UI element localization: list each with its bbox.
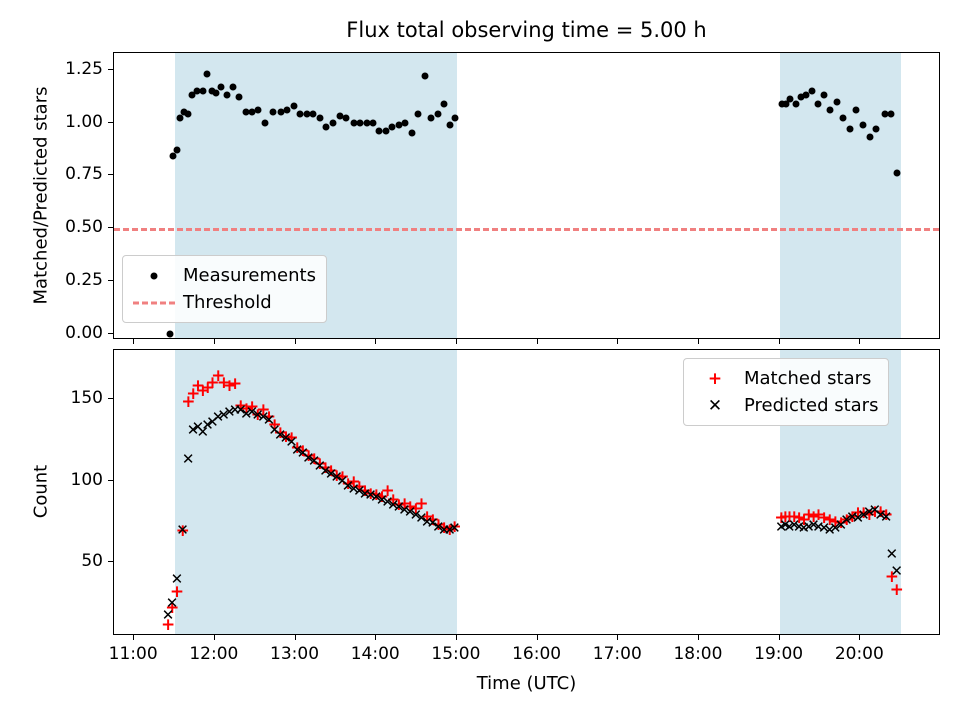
measurement-point [859, 121, 866, 128]
measurement-point [452, 115, 459, 122]
x-tick-mark [617, 339, 618, 344]
y-tick-mark [108, 561, 113, 562]
measurement-point [236, 94, 243, 101]
measurement-point [866, 134, 873, 141]
y-tick-mark [108, 280, 113, 281]
predicted-star-point: ✕ [176, 523, 190, 537]
x-tick-mark [375, 635, 376, 640]
x-tick-mark [133, 339, 134, 344]
measurement-point [808, 87, 815, 94]
x-axis-label: Time (UTC) [113, 673, 940, 694]
y-tick-mark [108, 480, 113, 481]
x-tick-mark [456, 635, 457, 640]
x-tick-mark [859, 635, 860, 640]
y-tick-label: 0.50 [13, 217, 103, 237]
legend-label-measurements: Measurements [177, 265, 316, 286]
x-tick-mark [779, 339, 780, 344]
predicted-star-point: ✕ [885, 547, 899, 561]
measurement-point [199, 87, 206, 94]
measurement-point [415, 111, 422, 118]
measurement-point [323, 123, 330, 130]
x-tick-mark [859, 339, 860, 344]
y-tick-label: 1.00 [13, 112, 103, 132]
measurement-point [316, 115, 323, 122]
y-tick-mark [108, 69, 113, 70]
legend-item-matched-stars[interactable]: + Matched stars [692, 365, 878, 392]
predicted-star-point: ✕ [181, 452, 195, 466]
legend-item-predicted-stars[interactable]: ✕ Predicted stars [692, 392, 878, 419]
x-tick-label: 16:00 [512, 644, 561, 664]
measurement-point [792, 100, 799, 107]
x-tick-mark [295, 635, 296, 640]
x-tick-label: 14:00 [351, 644, 400, 664]
x-tick-mark [698, 635, 699, 640]
y-tick-label: 150 [13, 388, 103, 408]
measurement-point [846, 125, 853, 132]
y-tick-mark [108, 398, 113, 399]
x-tick-mark [214, 635, 215, 640]
x-tick-label: 13:00 [270, 644, 319, 664]
measurement-point [223, 92, 230, 99]
measurement-point [447, 121, 454, 128]
x-tick-label: 15:00 [431, 644, 480, 664]
predicted-star-point: ✕ [879, 510, 893, 524]
x-tick-mark [133, 635, 134, 640]
figure-title: Flux total observing time = 5.00 h [113, 18, 940, 42]
bottom-panel-y-axis-label: Count [31, 412, 52, 572]
measurement-point [853, 106, 860, 113]
y-tick-label: 0.25 [13, 270, 103, 290]
x-tick-label: 19:00 [754, 644, 803, 664]
legend-item-threshold[interactable]: Threshold [131, 289, 316, 316]
x-axis-label-text: Time (UTC) [477, 673, 577, 694]
x-tick-label: 11:00 [109, 644, 158, 664]
figure-canvas: Flux total observing time = 5.00 h 0.000… [0, 0, 960, 720]
measurement-point [343, 115, 350, 122]
measurement-point [873, 125, 880, 132]
bottom-panel-y-axis-label-text: Count [31, 465, 52, 518]
measurement-point [440, 100, 447, 107]
x-tick-mark [456, 339, 457, 344]
measurement-point [203, 71, 210, 78]
measurement-point [887, 111, 894, 118]
top-panel-y-axis-label: Matched/Predicted stars [31, 55, 52, 335]
y-tick-label: 100 [13, 470, 103, 490]
measurement-point [827, 106, 834, 113]
legend-bottom-panel[interactable]: + Matched stars ✕ Predicted stars [683, 358, 889, 426]
measurement-point [173, 147, 180, 154]
measurement-point [840, 115, 847, 122]
predicted-star-point: ✕ [890, 564, 904, 578]
y-tick-mark [108, 227, 113, 228]
measurement-point [369, 119, 376, 126]
measurement-point [290, 102, 297, 109]
predicted-star-point: ✕ [165, 596, 179, 610]
measurement-point [261, 119, 268, 126]
measurement-point [893, 170, 900, 177]
predicted-stars-cross-icon: ✕ [692, 396, 738, 416]
measurement-point [329, 119, 336, 126]
x-tick-mark [295, 339, 296, 344]
x-tick-label: 17:00 [593, 644, 642, 664]
measurement-point [434, 111, 441, 118]
y-tick-label: 1.25 [13, 59, 103, 79]
x-tick-mark [698, 339, 699, 344]
measurement-point [408, 130, 415, 137]
predicted-star-point: ✕ [170, 572, 184, 586]
measurement-point [402, 119, 409, 126]
matched-stars-plus-icon: + [692, 369, 738, 389]
x-tick-mark [537, 635, 538, 640]
measurement-point [169, 153, 176, 160]
measurement-point [167, 330, 174, 337]
x-tick-label: 12:00 [189, 644, 238, 664]
measurement-point [218, 83, 225, 90]
threshold-line-icon [131, 293, 177, 313]
measurement-point [177, 115, 184, 122]
top-panel-y-axis-label-text: Matched/Predicted stars [31, 86, 52, 304]
measurement-point [269, 109, 276, 116]
y-tick-mark [108, 122, 113, 123]
y-tick-label: 0.75 [13, 164, 103, 184]
measurement-point [814, 100, 821, 107]
legend-label-predicted-stars: Predicted stars [738, 395, 878, 416]
measurement-point [213, 90, 220, 97]
measurement-point [229, 83, 236, 90]
x-tick-mark [779, 635, 780, 640]
y-tick-mark [108, 174, 113, 175]
x-tick-mark [617, 635, 618, 640]
x-tick-label: 20:00 [835, 644, 884, 664]
measurement-point [284, 106, 291, 113]
x-tick-mark [214, 339, 215, 344]
y-tick-label: 50 [13, 551, 103, 571]
measurement-point [821, 92, 828, 99]
measurement-point [255, 106, 262, 113]
predicted-star-point: ✕ [447, 521, 461, 535]
legend-label-matched-stars: Matched stars [738, 368, 871, 389]
x-tick-mark [537, 339, 538, 344]
measurement-point [421, 73, 428, 80]
x-tick-mark [375, 339, 376, 344]
threshold-line [114, 228, 939, 231]
y-tick-mark [108, 333, 113, 334]
measurement-point [185, 111, 192, 118]
legend-item-measurements[interactable]: Measurements [131, 262, 316, 289]
legend-label-threshold: Threshold [177, 292, 272, 313]
matched-star-point: + [890, 583, 904, 597]
matched-star-point: + [228, 377, 242, 391]
measurement-point [833, 98, 840, 105]
measurements-marker-icon [131, 266, 177, 286]
x-tick-label: 18:00 [673, 644, 722, 664]
legend-top-panel[interactable]: Measurements Threshold [122, 255, 327, 323]
y-tick-label: 0.00 [13, 323, 103, 343]
